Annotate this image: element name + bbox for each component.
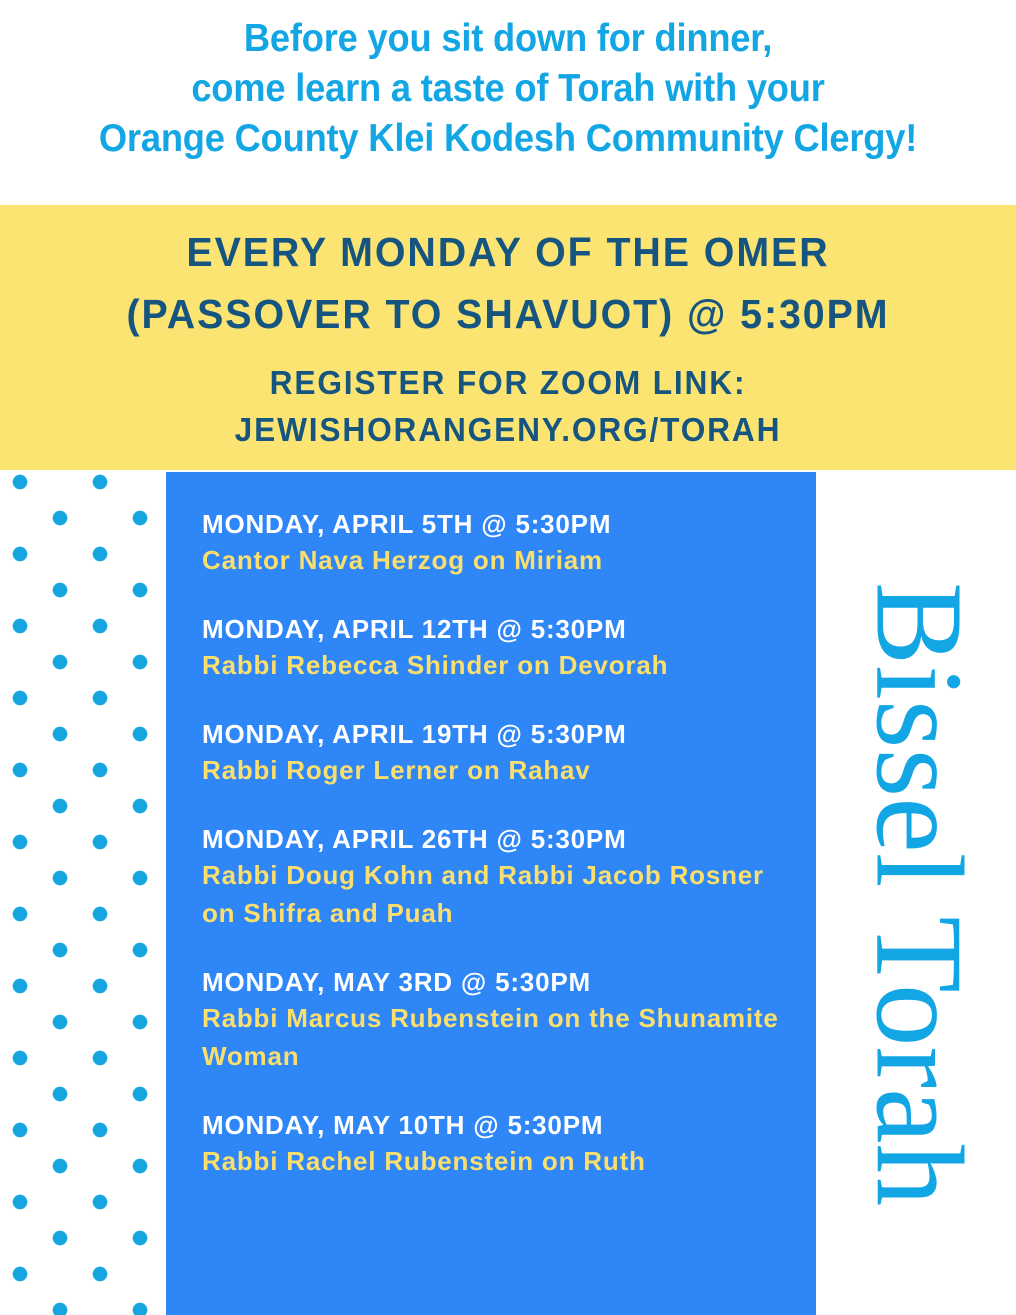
- event-date: MONDAY, APRIL 5TH @ 5:30PM: [202, 508, 816, 541]
- header-line-1: Before you sit down for dinner,: [36, 14, 981, 64]
- header-block: Before you sit down for dinner, come lea…: [0, 14, 1016, 164]
- event-speaker: Cantor Nava Herzog on Miriam: [202, 541, 792, 579]
- event-date: MONDAY, MAY 3RD @ 5:30PM: [202, 966, 816, 999]
- wordmark-area: Bissel Torah: [820, 472, 1016, 1315]
- bissel-torah-wordmark: Bissel Torah: [856, 581, 981, 1205]
- event-date: MONDAY, APRIL 19TH @ 5:30PM: [202, 718, 816, 751]
- header-line-3: Orange County Klei Kodesh Community Cler…: [36, 114, 981, 164]
- dot-pattern-band: [0, 472, 166, 1315]
- event-speaker: Rabbi Doug Kohn and Rabbi Jacob Rosner o…: [202, 856, 792, 932]
- event-date: MONDAY, MAY 10TH @ 5:30PM: [202, 1109, 816, 1142]
- yellow-banner: EVERY MONDAY OF THE OMER (PASSOVER TO SH…: [0, 205, 1016, 470]
- header-line-2: come learn a taste of Torah with your: [36, 64, 981, 114]
- schedule-item: MONDAY, APRIL 26TH @ 5:30PM Rabbi Doug K…: [202, 823, 816, 932]
- banner-register-block: REGISTER FOR ZOOM LINK: JEWISHORANGENY.O…: [0, 359, 1016, 453]
- schedule-item: MONDAY, MAY 3RD @ 5:30PM Rabbi Marcus Ru…: [202, 966, 816, 1075]
- event-speaker: Rabbi Marcus Rubenstein on the Shunamite…: [202, 999, 792, 1075]
- event-date: MONDAY, APRIL 26TH @ 5:30PM: [202, 823, 816, 856]
- event-speaker: Rabbi Roger Lerner on Rahav: [202, 751, 792, 789]
- banner-register-url[interactable]: JEWISHORANGENY.ORG/TORAH: [20, 406, 995, 453]
- flyer-canvas: Before you sit down for dinner, come lea…: [0, 0, 1016, 1315]
- schedule-panel: MONDAY, APRIL 5TH @ 5:30PM Cantor Nava H…: [166, 472, 816, 1315]
- banner-schedule-line-1: EVERY MONDAY OF THE OMER: [20, 221, 995, 283]
- banner-register-label: REGISTER FOR ZOOM LINK:: [20, 359, 995, 406]
- event-speaker: Rabbi Rachel Rubenstein on Ruth: [202, 1142, 792, 1180]
- event-date: MONDAY, APRIL 12TH @ 5:30PM: [202, 613, 816, 646]
- banner-schedule-line-2: (PASSOVER TO SHAVUOT) @ 5:30PM: [20, 283, 995, 345]
- schedule-item: MONDAY, MAY 10TH @ 5:30PM Rabbi Rachel R…: [202, 1109, 816, 1180]
- schedule-item: MONDAY, APRIL 5TH @ 5:30PM Cantor Nava H…: [202, 508, 816, 579]
- event-speaker: Rabbi Rebecca Shinder on Devorah: [202, 646, 792, 684]
- schedule-item: MONDAY, APRIL 19TH @ 5:30PM Rabbi Roger …: [202, 718, 816, 789]
- schedule-item: MONDAY, APRIL 12TH @ 5:30PM Rabbi Rebecc…: [202, 613, 816, 684]
